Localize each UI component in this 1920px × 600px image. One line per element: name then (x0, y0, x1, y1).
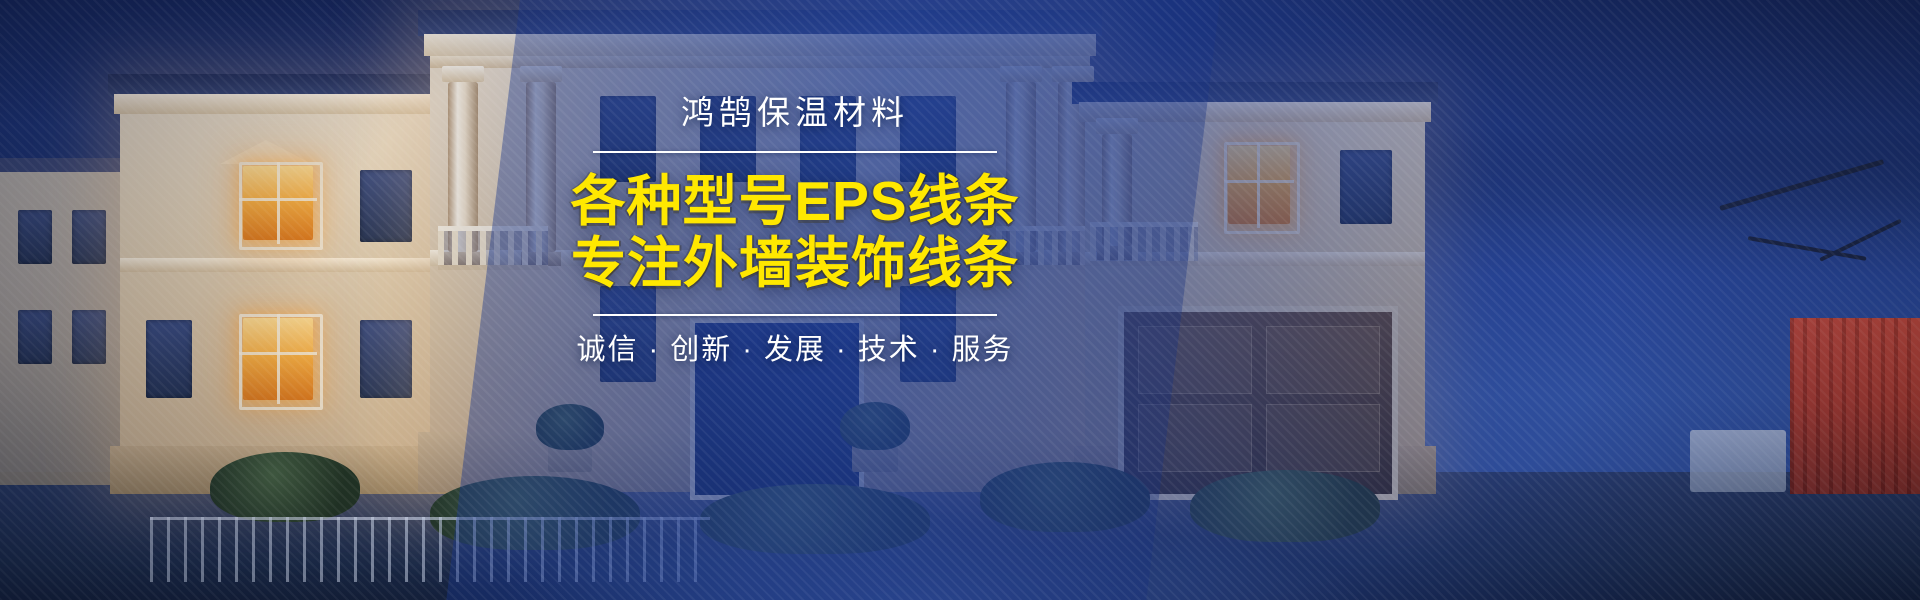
banner-copy: 鸿鹄保温材料 各种型号EPS线条 专注外墙装饰线条 诚信 · 创新 · 发展 ·… (560, 96, 1030, 365)
tagline: 诚信 · 创新 · 发展 · 技术 · 服务 (560, 336, 1030, 365)
brand-eyebrow: 鸿鹄保温材料 (560, 96, 1030, 129)
divider-lower (593, 314, 997, 316)
divider-upper (593, 151, 997, 153)
headline-line-1: 各种型号EPS线条 (560, 171, 1030, 233)
headline-group: 各种型号EPS线条 专注外墙装饰线条 (560, 171, 1030, 294)
headline-line-2: 专注外墙装饰线条 (560, 233, 1030, 295)
promo-banner: 鸿鹄保温材料 各种型号EPS线条 专注外墙装饰线条 诚信 · 创新 · 发展 ·… (0, 0, 1920, 600)
